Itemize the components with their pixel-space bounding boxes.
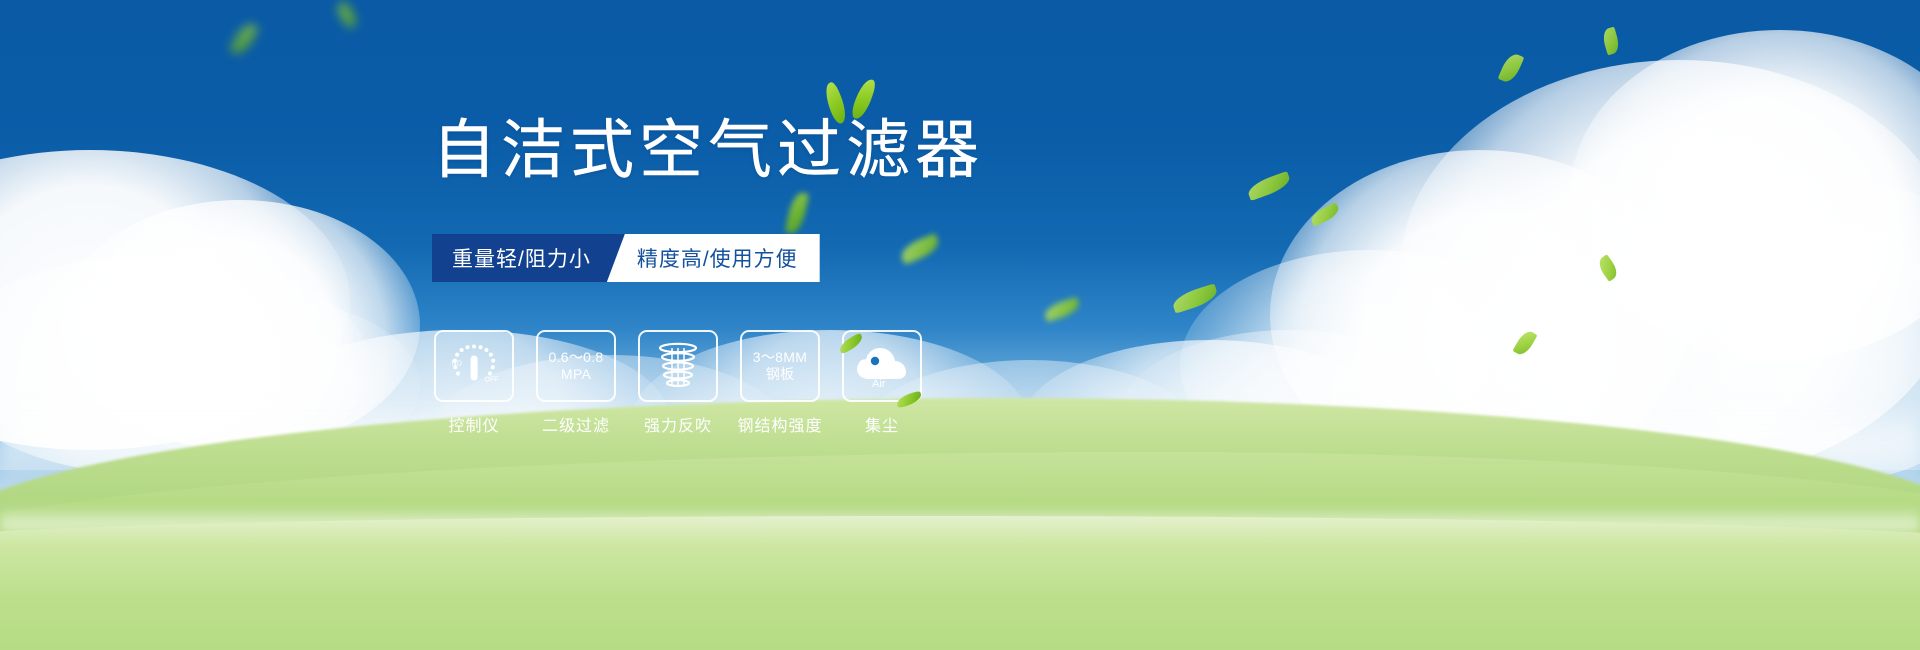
feature-two-stage-filter-label: 二级过滤 bbox=[542, 412, 610, 436]
dust-leaf-bottom-icon bbox=[895, 391, 923, 409]
feature-steel-strength-label: 钢结构强度 bbox=[738, 412, 823, 436]
tab-weight-resistance-label: 重量轻/阻力小 bbox=[452, 243, 591, 273]
feature-icon-row: NO OFF 控制仪 0.6～0.8 MPA 二级过滤 bbox=[434, 330, 922, 436]
feature-dust-collection-box: Air bbox=[842, 330, 922, 402]
steel-material-text: 钢板 bbox=[753, 366, 807, 384]
gauge-label-off: OFF bbox=[485, 377, 499, 384]
air-cloud-icon: Air bbox=[851, 343, 913, 389]
feature-backblow-label: 强力反吹 bbox=[644, 412, 712, 436]
feature-controller[interactable]: NO OFF 控制仪 bbox=[434, 330, 514, 436]
steel-thickness-text: 3～8MM bbox=[753, 349, 807, 367]
pressure-unit-text: MPA bbox=[548, 366, 603, 384]
feature-tab-group: 重量轻/阻力小 精度高/使用方便 bbox=[432, 234, 820, 282]
tab-precision-convenience-label: 精度高/使用方便 bbox=[637, 243, 798, 273]
feature-controller-box: NO OFF bbox=[434, 330, 514, 402]
pressure-value-icon: 0.6～0.8 MPA bbox=[548, 349, 603, 384]
feature-two-stage-filter-box: 0.6～0.8 MPA bbox=[536, 330, 616, 402]
steel-plate-icon: 3～8MM 钢板 bbox=[753, 349, 807, 384]
feature-backblow-box bbox=[638, 330, 718, 402]
tab-weight-resistance[interactable]: 重量轻/阻力小 bbox=[432, 234, 625, 282]
tab-precision-convenience[interactable]: 精度高/使用方便 bbox=[607, 234, 820, 282]
gauge-dial-icon: NO OFF bbox=[444, 339, 504, 393]
feature-dust-collection-label: 集尘 bbox=[865, 412, 899, 436]
banner-content: 自洁式空气过滤器 重量轻/阻力小 精度高/使用方便 bbox=[0, 0, 1920, 650]
feature-steel-strength-box: 3～8MM 钢板 bbox=[740, 330, 820, 402]
pressure-range-text: 0.6～0.8 bbox=[548, 349, 603, 367]
feature-steel-strength[interactable]: 3～8MM 钢板 钢结构强度 bbox=[740, 330, 820, 436]
feature-backblow[interactable]: 强力反吹 bbox=[638, 330, 718, 436]
title-block: 自洁式空气过滤器 bbox=[432, 118, 984, 182]
feature-two-stage-filter[interactable]: 0.6～0.8 MPA 二级过滤 bbox=[536, 330, 616, 436]
feature-dust-collection[interactable]: Air 集尘 bbox=[842, 330, 922, 436]
coil-filter-icon bbox=[650, 340, 706, 392]
gauge-label-no: NO bbox=[452, 361, 463, 368]
page-title: 自洁式空气过滤器 bbox=[432, 118, 984, 182]
air-cloud-icon-text: Air bbox=[872, 378, 886, 389]
product-hero-banner: 自洁式空气过滤器 重量轻/阻力小 精度高/使用方便 bbox=[0, 0, 1920, 650]
feature-controller-label: 控制仪 bbox=[448, 412, 499, 436]
